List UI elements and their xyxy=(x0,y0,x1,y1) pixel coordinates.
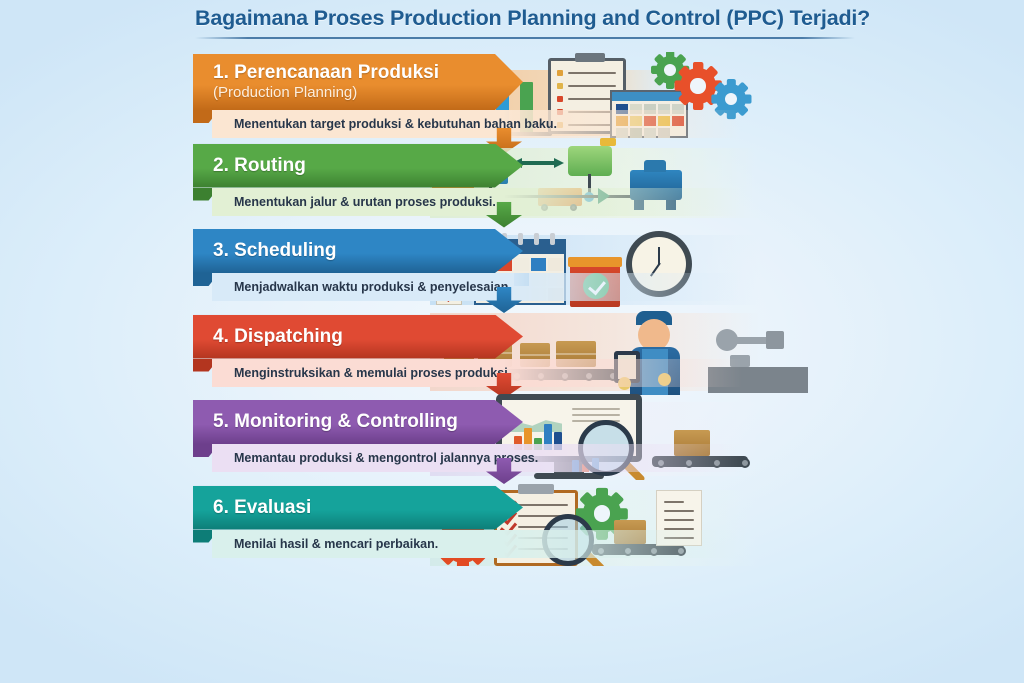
step-subtitle-1: (Production Planning) xyxy=(213,84,523,101)
step-banner-6[interactable]: 6. Evaluasi xyxy=(193,486,523,530)
step-banner-5[interactable]: 5. Monitoring & Controlling xyxy=(193,400,523,444)
step-description-3: Menjadwalkan waktu produksi & penyelesai… xyxy=(212,273,742,301)
step-description-1: Menentukan target produksi & kebutuhan b… xyxy=(212,110,742,138)
step-title-3: 3. Scheduling xyxy=(213,241,523,261)
step-description-5: Memantau produksi & mengontrol jalannya … xyxy=(212,444,742,472)
step-description-2: Menentukan jalur & urutan proses produks… xyxy=(212,188,742,216)
step-title-1: 1. Perencanaan Produksi xyxy=(213,63,523,83)
station-green xyxy=(568,146,612,176)
step-title-5: 5. Monitoring & Controlling xyxy=(213,412,523,432)
step-banner-4[interactable]: 4. Dispatching xyxy=(193,315,523,359)
title-divider xyxy=(195,37,855,39)
process-steps-list: 1. Perencanaan Produksi(Production Plann… xyxy=(0,52,1024,612)
step-description-6: Menilai hasil & mencari perbaikan. xyxy=(212,530,742,558)
step-title-4: 4. Dispatching xyxy=(213,327,523,347)
page-title-block: Bagaimana Proses Production Planning and… xyxy=(195,6,855,39)
step-title-2: 2. Routing xyxy=(213,156,523,176)
step-banner-3[interactable]: 3. Scheduling xyxy=(193,229,523,273)
step-description-4: Menginstruksikan & memulai proses produk… xyxy=(212,359,742,387)
step-title-6: 6. Evaluasi xyxy=(213,498,523,518)
step-banner-2[interactable]: 2. Routing xyxy=(193,144,523,188)
page-title: Bagaimana Proses Production Planning and… xyxy=(195,6,855,31)
step-banner-1[interactable]: 1. Perencanaan Produksi(Production Plann… xyxy=(193,54,523,110)
